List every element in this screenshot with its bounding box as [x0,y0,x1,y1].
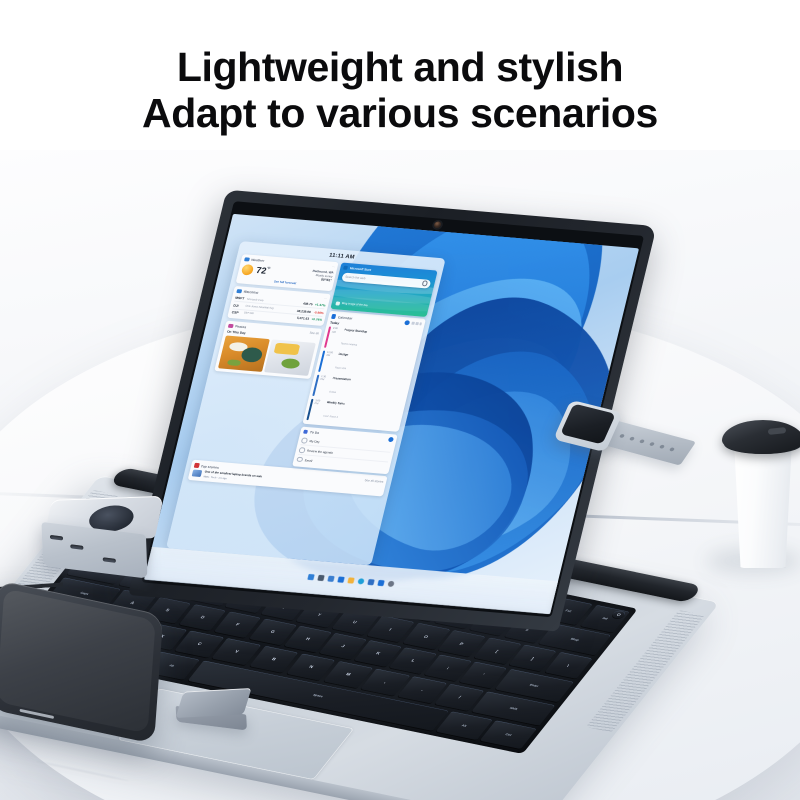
usb-c-hub [37,496,168,578]
hub-usb-c-port-icon [70,544,83,550]
band-hole [639,439,645,443]
weather-header: Weather [251,258,265,263]
widget-search[interactable]: Microsoft Start Search the web [330,262,438,317]
avatar[interactable] [404,320,410,325]
photos-icon [228,324,234,329]
search-caption: Bing image of the day [341,302,368,307]
stock-change: +1.47% [314,303,326,308]
weather-icon [244,257,250,262]
stock-change: +0.74% [311,317,323,322]
stock-price: 38,239.98 [297,309,312,314]
checkbox[interactable] [298,447,305,453]
stock-name: S&P 500 [243,312,295,319]
band-hole [649,442,655,446]
watchlist-icon [236,289,242,294]
event-place: Online [329,390,337,393]
stock-price: 5,071.63 [297,316,310,321]
hub-usb-c-port-icon [103,557,116,563]
event-place: Teams meeting [340,343,357,347]
photos-header: Photos [235,324,247,329]
watchlist-header: Watchlist [243,289,259,294]
widget-watchlist[interactable]: Watchlist ··· MSFTMicrosoft Corp408.75+1… [227,285,331,326]
settings-icon[interactable] [387,581,394,587]
search-placeholder: Search the web [345,275,366,281]
widget-todo[interactable]: To Do My DayReview the agendaEmail [292,426,398,474]
todo-avatar[interactable] [388,437,394,442]
photos-seeall-link[interactable]: See all [309,331,319,336]
weather-temp: 72°F [255,266,271,276]
stock-symbol: CSP [231,310,242,315]
sun-icon [241,264,255,276]
stock-change: -0.98% [312,310,324,315]
photo-thumb[interactable] [218,336,270,373]
event-place: Conf. Room A [323,414,339,418]
photo-thumb[interactable] [264,339,316,376]
watchlist-more-icon[interactable]: ··· [324,296,328,300]
widget-photos[interactable]: Photos See all On This Day [214,320,323,379]
start-icon[interactable] [307,574,314,580]
hub-usb-c-port-icon [50,535,63,541]
edge-icon[interactable] [357,578,364,584]
search-header: Microsoft Start [350,266,372,272]
smartwatch [548,398,684,500]
checkbox[interactable] [301,438,308,444]
portable-ssd [175,688,253,736]
news-header: Top stories [200,464,219,469]
page-title: Lightweight and stylish Adapt to various… [0,45,800,137]
widget-weather[interactable]: Weather ··· 72°F [236,254,339,292]
widgets-icon[interactable] [327,576,334,582]
calendar-header: Calendar [338,315,353,320]
weather-highlow: 80°/61° [310,277,332,283]
explorer-icon[interactable] [347,577,354,583]
band-hole [629,436,635,440]
microsoft-start-icon [343,265,349,270]
calendar-actions[interactable] [412,322,422,325]
chat-icon[interactable] [337,576,344,582]
stock-symbol: MSFT [235,296,246,301]
coffee-cup [722,398,800,573]
checkbox[interactable] [296,457,303,463]
search-icon[interactable] [421,280,428,286]
stock-price: 408.75 [303,302,313,307]
webcam-icon [433,221,442,228]
search-icon[interactable] [317,575,324,581]
mail-icon[interactable] [377,580,384,586]
news-icon [194,463,200,468]
news-seeall-link[interactable]: See all stories [364,478,384,483]
cup-lid [722,420,800,454]
headline-line-2: Adapt to various scenarios [0,91,800,137]
store-icon[interactable] [367,579,374,585]
band-hole [669,447,675,451]
weather-more-icon[interactable]: ··· [332,264,336,268]
todo-header: To Do [310,430,320,435]
todo-icon [303,430,309,435]
stock-symbol: DJI [233,303,244,308]
band-hole [619,434,625,438]
calendar-icon [331,314,337,319]
band-hole [659,444,665,448]
smartphone [0,593,160,731]
headline-line-1: Lightweight and stylish [0,45,800,91]
news-thumbnail [192,470,203,478]
product-scene: Lightweight and stylish Adapt to various… [0,0,800,800]
event-place: Room 204 [335,367,347,371]
image-badge-icon [335,301,341,306]
